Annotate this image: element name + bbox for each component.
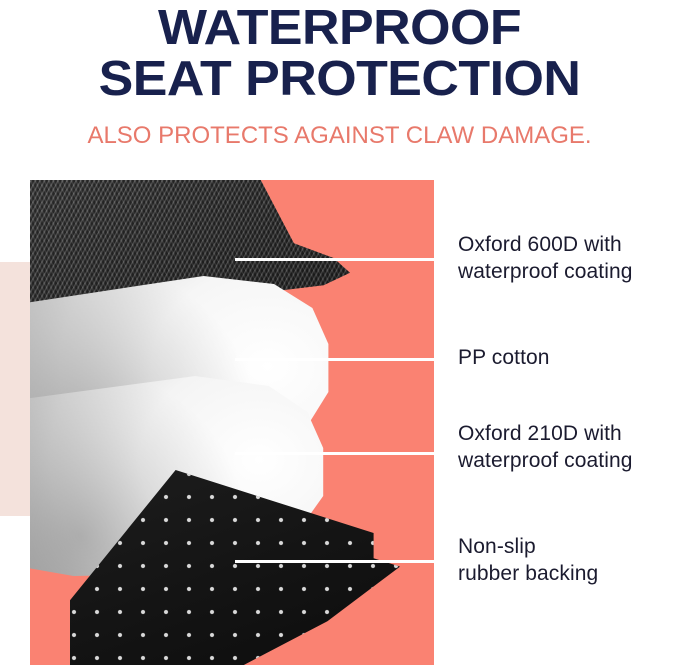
label-oxford-210d: Oxford 210D with waterproof coating (458, 420, 679, 475)
product-infographic: WATERPROOF SEAT PROTECTION ALSO PROTECTS… (0, 0, 679, 665)
label-oxford-600d-line1: Oxford 600D with (458, 231, 679, 258)
headline-line-1: WATERPROOF (0, 4, 679, 53)
connector-line-oxford-600d (235, 258, 440, 261)
label-oxford-210d-line1: Oxford 210D with (458, 420, 679, 447)
label-rubber-backing-line2: rubber backing (458, 560, 679, 587)
headline-line-2: SEAT PROTECTION (0, 55, 679, 104)
accent-band (0, 262, 32, 516)
connector-line-rubber-backing (235, 560, 440, 563)
label-pp-cotton: PP cotton (458, 344, 679, 371)
label-rubber-backing-line1: Non-slip (458, 533, 679, 560)
connector-line-oxford-210d (235, 452, 440, 455)
subtitle: ALSO PROTECTS AGAINST CLAW DAMAGE. (0, 122, 679, 150)
connector-line-pp-cotton (235, 358, 440, 361)
label-oxford-210d-line2: waterproof coating (458, 447, 679, 474)
label-pp-cotton-line1: PP cotton (458, 344, 679, 371)
label-rubber-backing: Non-slip rubber backing (458, 533, 679, 588)
label-oxford-600d-line2: waterproof coating (458, 258, 679, 285)
label-oxford-600d: Oxford 600D with waterproof coating (458, 231, 679, 286)
layer-illustration-panel (30, 180, 434, 665)
